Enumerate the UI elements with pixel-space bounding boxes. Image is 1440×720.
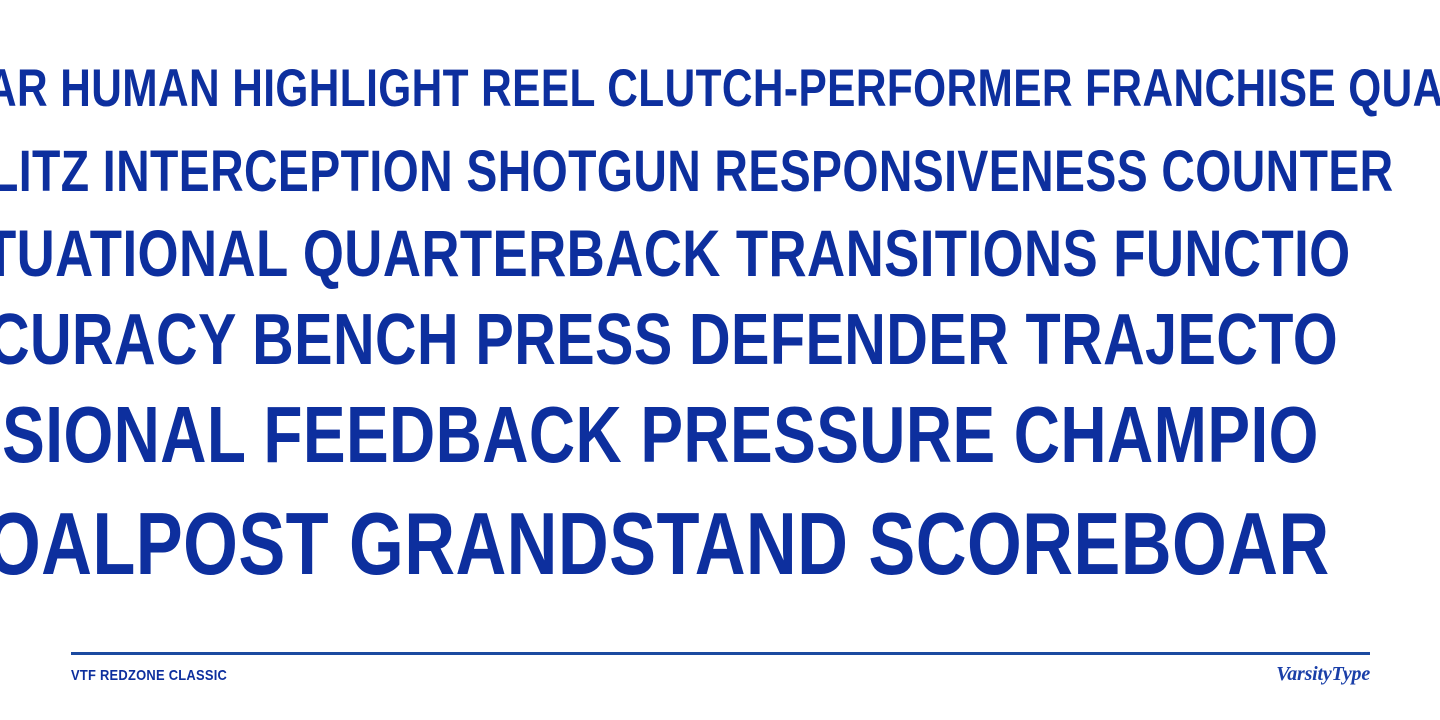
specimen-line-1-text: AR HUMAN HIGHLIGHT REEL CLUTCH-PERFORMER… [0,62,1440,115]
specimen-line-3: TUATIONAL QUARTERBACK TRANSITIONS FUNCTI… [0,220,1440,286]
specimen-line-4: CURACY BENCH PRESS DEFENDER TRAJECTO [0,304,1440,376]
specimen-text-block: AR HUMAN HIGHLIGHT REEL CLUTCH-PERFORMER… [0,0,1440,620]
specimen-line-6-text: OALPOST GRANDSTAND SCOREBOAR [0,500,1330,588]
specimen-line-2: LITZ INTERCEPTION SHOTGUN RESPONSIVENESS… [0,143,1440,201]
font-name-label: VTF REDZONE CLASSIC [71,668,227,683]
specimen-line-2-text: LITZ INTERCEPTION SHOTGUN RESPONSIVENESS… [0,143,1394,201]
specimen-line-1: AR HUMAN HIGHLIGHT REEL CLUTCH-PERFORMER… [0,62,1440,115]
footer-divider-rule [71,652,1370,655]
type-specimen-sheet: AR HUMAN HIGHLIGHT REEL CLUTCH-PERFORMER… [0,0,1440,720]
specimen-line-3-text: TUATIONAL QUARTERBACK TRANSITIONS FUNCTI… [0,220,1351,286]
specimen-line-5-text: ISIONAL FEEDBACK PRESSURE CHAMPIO [0,395,1319,475]
specimen-line-5: ISIONAL FEEDBACK PRESSURE CHAMPIO [0,395,1440,475]
specimen-footer: VTF REDZONE CLASSIC VarsityType [71,646,1370,696]
specimen-line-6: OALPOST GRANDSTAND SCOREBOAR [0,500,1440,588]
foundry-wordmark: VarsityType [1276,664,1370,684]
specimen-line-4-text: CURACY BENCH PRESS DEFENDER TRAJECTO [0,304,1338,376]
